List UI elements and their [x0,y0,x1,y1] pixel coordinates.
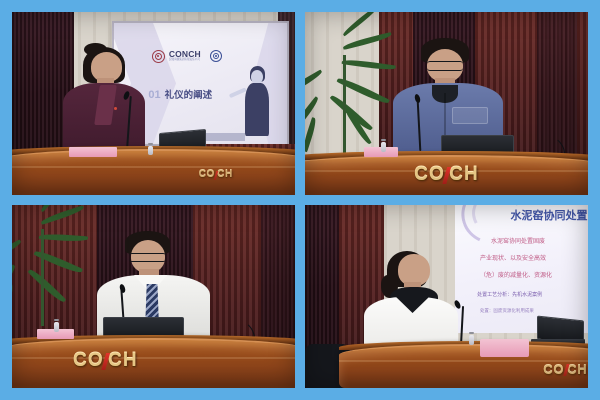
conch-text-left: CO [414,164,445,186]
potted-palm [12,205,91,337]
palm-stem [343,55,346,155]
slide-line: 水泥窑协同处置固废 [491,236,545,245]
podium [12,338,295,388]
uniform-pocket [452,107,488,124]
palm-frond [27,267,66,305]
palm-frond [341,58,395,71]
slide-line: 处置：固废资源化利用成果 [480,308,534,314]
panel-top-right: COCH [305,12,588,195]
podium-conch-logo: COCH [543,362,587,377]
palm-frond [38,233,87,242]
water-bottle-cap-icon [469,332,474,334]
palm-frond [12,264,18,297]
conch-text-right: CH [217,169,233,180]
water-bottle [469,335,474,345]
water-bottle [54,322,59,332]
photo-collage: CONCH 安徽海螺集团有限责任公司 01 礼仪的阐述 [0,0,600,400]
conch-text-right: CH [449,164,479,186]
podium-conch-logo: COCH [73,350,138,372]
podium-conch-logo: COCH [199,169,233,180]
name-plate [480,339,528,357]
slide-brand: CONCH 安徽海螺集团有限责任公司 [169,50,201,62]
conch-text-right: CH [567,362,587,377]
panel-top-left: CONCH 安徽海螺集团有限责任公司 01 礼仪的阐述 [12,12,295,195]
eyeglasses-icon [427,61,464,70]
name-plate [69,147,117,156]
conch-text-left: CO [199,169,215,180]
podium-conch-logo: COCH [414,164,479,186]
eyeglasses-icon [129,253,166,262]
presenter-head [398,254,429,285]
palm-frond [12,240,22,263]
palm-stem [41,229,44,326]
conch-emblem-right-icon [210,50,222,62]
water-bottle [381,142,386,152]
podium [12,149,295,195]
palm-frond [305,117,317,152]
projection-screen: 水泥窑协同处置 水泥窑协同处置固废 产业现状、以及安全高效 （危）废的减量化、资… [455,205,588,333]
conch-text-right: CH [108,350,138,372]
slide-brand-cn: 安徽海螺集团有限责任公司 [169,59,201,62]
palm-frond [305,70,324,96]
slide-heading: 水泥窑协同处置 [510,207,587,223]
slide-illustration-figure [238,66,276,136]
figure-body [245,83,269,136]
slide-section-title: 礼仪的阐述 [165,87,213,101]
slide-line: 处置工艺分析：先机水泥案例 [477,291,542,298]
palm-frond [12,284,14,315]
palm-frond [343,32,393,50]
conch-emblem-left-icon [152,50,165,63]
panel-bottom-left: COCH [12,205,295,388]
slide-line: 产业现状、以及安全高效 [480,253,546,262]
water-bottle-cap-icon [148,143,153,145]
slide-section-number: 01 [148,89,160,101]
water-bottle [148,146,153,155]
conch-text-left: CO [73,350,104,372]
conch-text-left: CO [543,362,564,377]
slide-line: （危）废的减量化、资源化 [480,270,552,279]
panel-bottom-right: 水泥窑协同处置 水泥窑协同处置固废 产业现状、以及安全高效 （危）废的减量化、资… [305,205,588,388]
slide-title: 01 礼仪的阐述 [148,87,212,101]
slide-logo-row: CONCH 安徽海螺集团有限责任公司 [152,50,222,63]
